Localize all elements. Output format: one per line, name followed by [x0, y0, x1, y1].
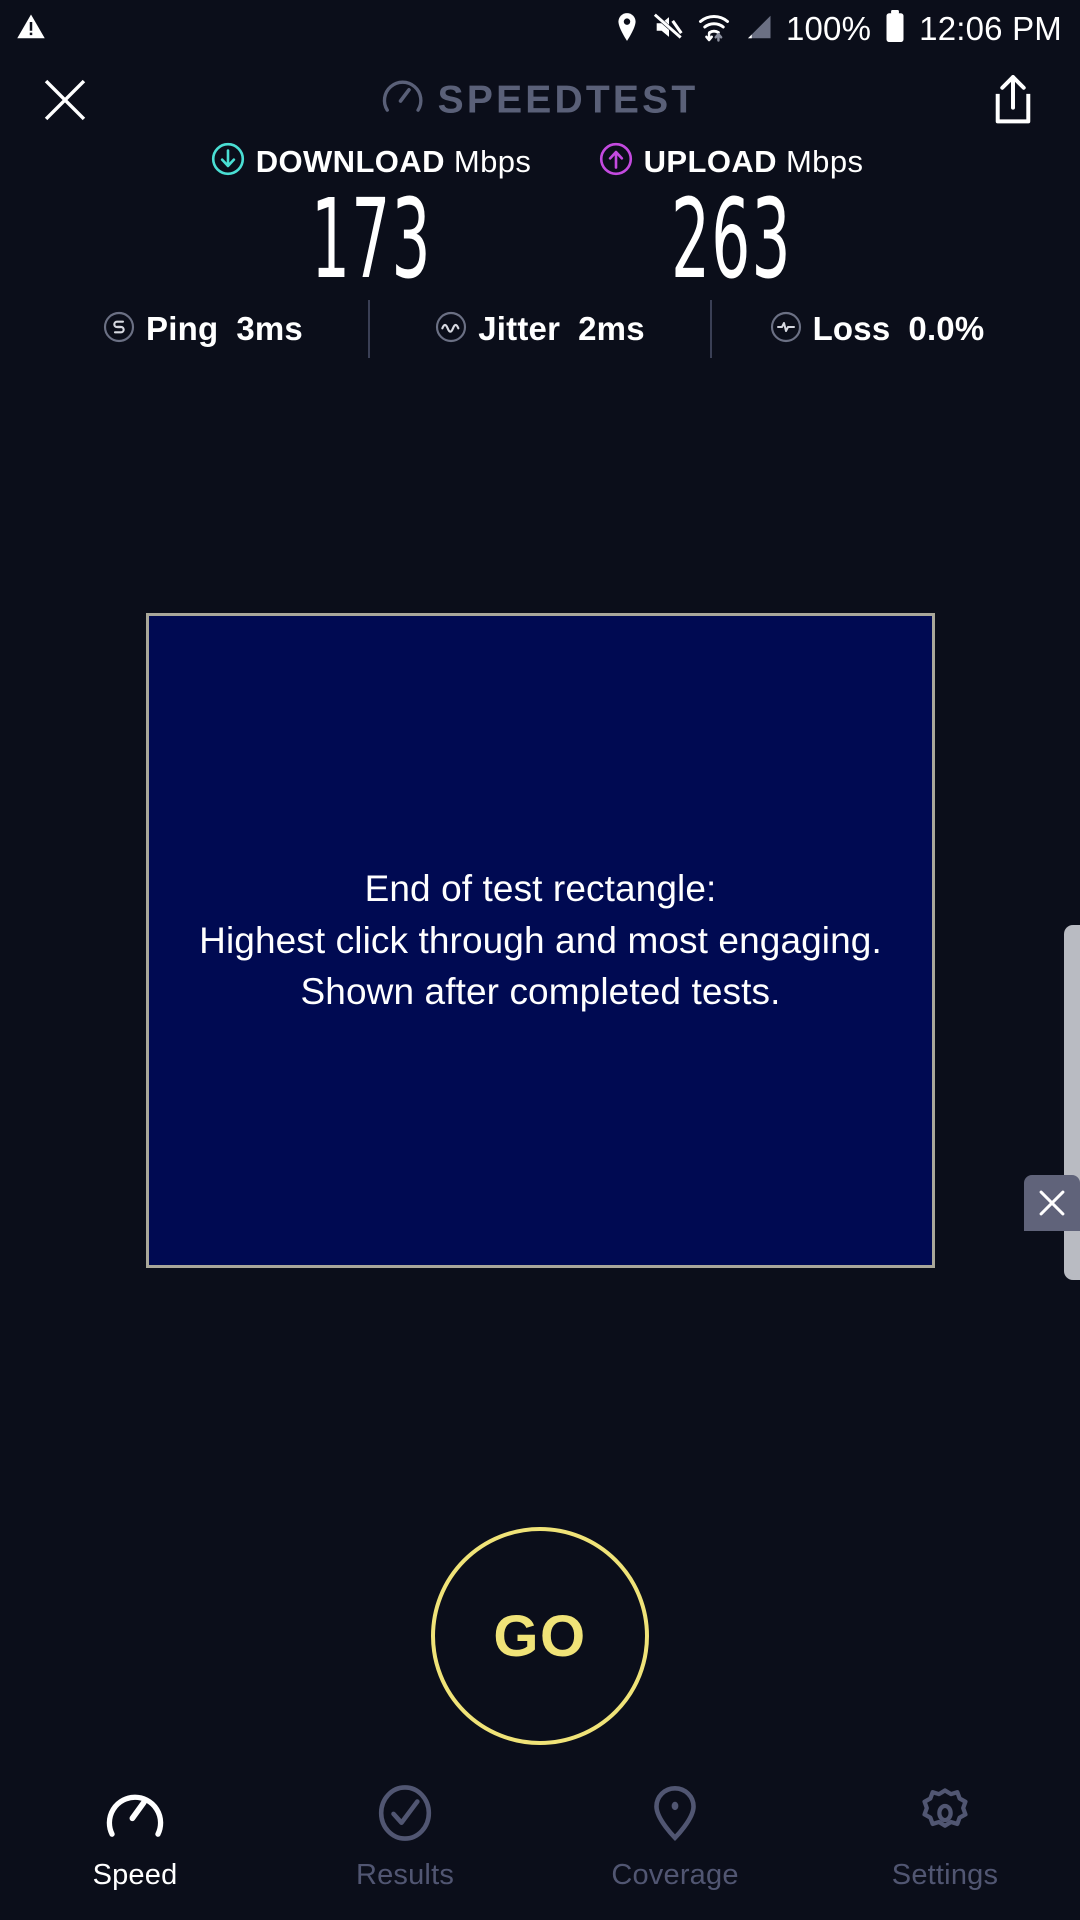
wifi-transfer-icon — [698, 11, 730, 48]
upload-result: UPLOAD Mbps 263 — [541, 142, 921, 295]
jitter-icon — [435, 311, 467, 348]
loss-label: Loss — [813, 310, 891, 348]
nav-item-results[interactable]: Results — [270, 1784, 540, 1892]
advertisement-container: End of test rectangle: Highest click thr… — [146, 613, 935, 1268]
battery-percent-label: 100% — [786, 10, 871, 48]
metric-jitter: Jitter 2ms — [435, 310, 645, 348]
download-value: 173 — [311, 183, 432, 295]
close-button[interactable] — [38, 73, 92, 127]
gear-icon — [915, 1784, 975, 1847]
arrow-up-circle-icon — [599, 142, 633, 181]
bottom-navigation: Speed Results Coverage — [0, 1780, 1080, 1920]
nav-item-speed[interactable]: Speed — [0, 1784, 270, 1892]
metric-loss: Loss 0.0% — [770, 310, 985, 348]
clock-label: 12:06 PM — [919, 10, 1062, 48]
close-x-icon — [42, 77, 88, 123]
close-x-icon — [1037, 1188, 1067, 1218]
warning-triangle-icon — [16, 12, 46, 47]
location-pin-icon — [614, 12, 640, 47]
metrics-row: Ping 3ms Jitter 2ms — [0, 300, 1080, 358]
download-label: DOWNLOAD — [256, 144, 445, 179]
test-results: DOWNLOAD Mbps 173 UP — [0, 142, 1080, 295]
download-result: DOWNLOAD Mbps 173 — [181, 142, 561, 295]
download-unit: Mbps — [454, 144, 531, 179]
nav-label-settings: Settings — [892, 1859, 998, 1892]
share-upload-icon — [989, 74, 1037, 126]
nav-item-settings[interactable]: Settings — [810, 1784, 1080, 1892]
nav-label-speed: Speed — [93, 1859, 178, 1892]
speedometer-icon — [382, 77, 424, 124]
metric-ping: Ping 3ms — [103, 310, 303, 348]
ad-banner[interactable]: End of test rectangle: Highest click thr… — [146, 613, 935, 1268]
go-button-label: GO — [493, 1603, 586, 1670]
nav-label-coverage: Coverage — [611, 1859, 738, 1892]
check-circle-icon — [375, 1784, 435, 1847]
location-pin-icon — [645, 1784, 705, 1847]
jitter-label: Jitter — [478, 310, 560, 348]
upload-unit: Mbps — [786, 144, 863, 179]
jitter-value: 2ms — [578, 310, 645, 348]
arrow-down-circle-icon — [211, 142, 245, 181]
brand-title: SPEEDTEST — [438, 78, 699, 122]
brand-logo: SPEEDTEST — [382, 77, 699, 124]
ad-text: End of test rectangle: Highest click thr… — [199, 863, 882, 1018]
nav-item-coverage[interactable]: Coverage — [540, 1784, 810, 1892]
status-bar-right: 100% 12:06 PM — [614, 10, 1062, 49]
nav-label-results: Results — [356, 1859, 454, 1892]
ping-icon — [103, 311, 135, 348]
ping-value: 3ms — [236, 310, 303, 348]
ad-text-line-3: Shown after completed tests. — [199, 966, 882, 1018]
upload-value: 263 — [671, 183, 792, 295]
status-bar: 100% 12:06 PM — [0, 0, 1080, 58]
loss-icon — [770, 311, 802, 348]
speedtest-app-screen: 100% 12:06 PM SPEEDTEST — [0, 0, 1080, 1920]
ad-text-line-2: Highest click through and most engaging. — [199, 915, 882, 967]
ad-close-button[interactable] — [1024, 1175, 1080, 1231]
cellular-signal-icon — [743, 13, 773, 46]
speedometer-icon — [105, 1784, 165, 1847]
ping-label: Ping — [146, 310, 218, 348]
app-header: SPEEDTEST — [0, 58, 1080, 142]
upload-label: UPLOAD — [644, 144, 777, 179]
loss-value: 0.0% — [908, 310, 984, 348]
volume-mute-icon — [653, 12, 685, 47]
go-button[interactable]: GO — [431, 1527, 649, 1745]
share-button[interactable] — [986, 71, 1040, 129]
ad-text-line-1: End of test rectangle: — [199, 863, 882, 915]
status-bar-left — [16, 12, 46, 47]
battery-full-icon — [884, 10, 906, 49]
